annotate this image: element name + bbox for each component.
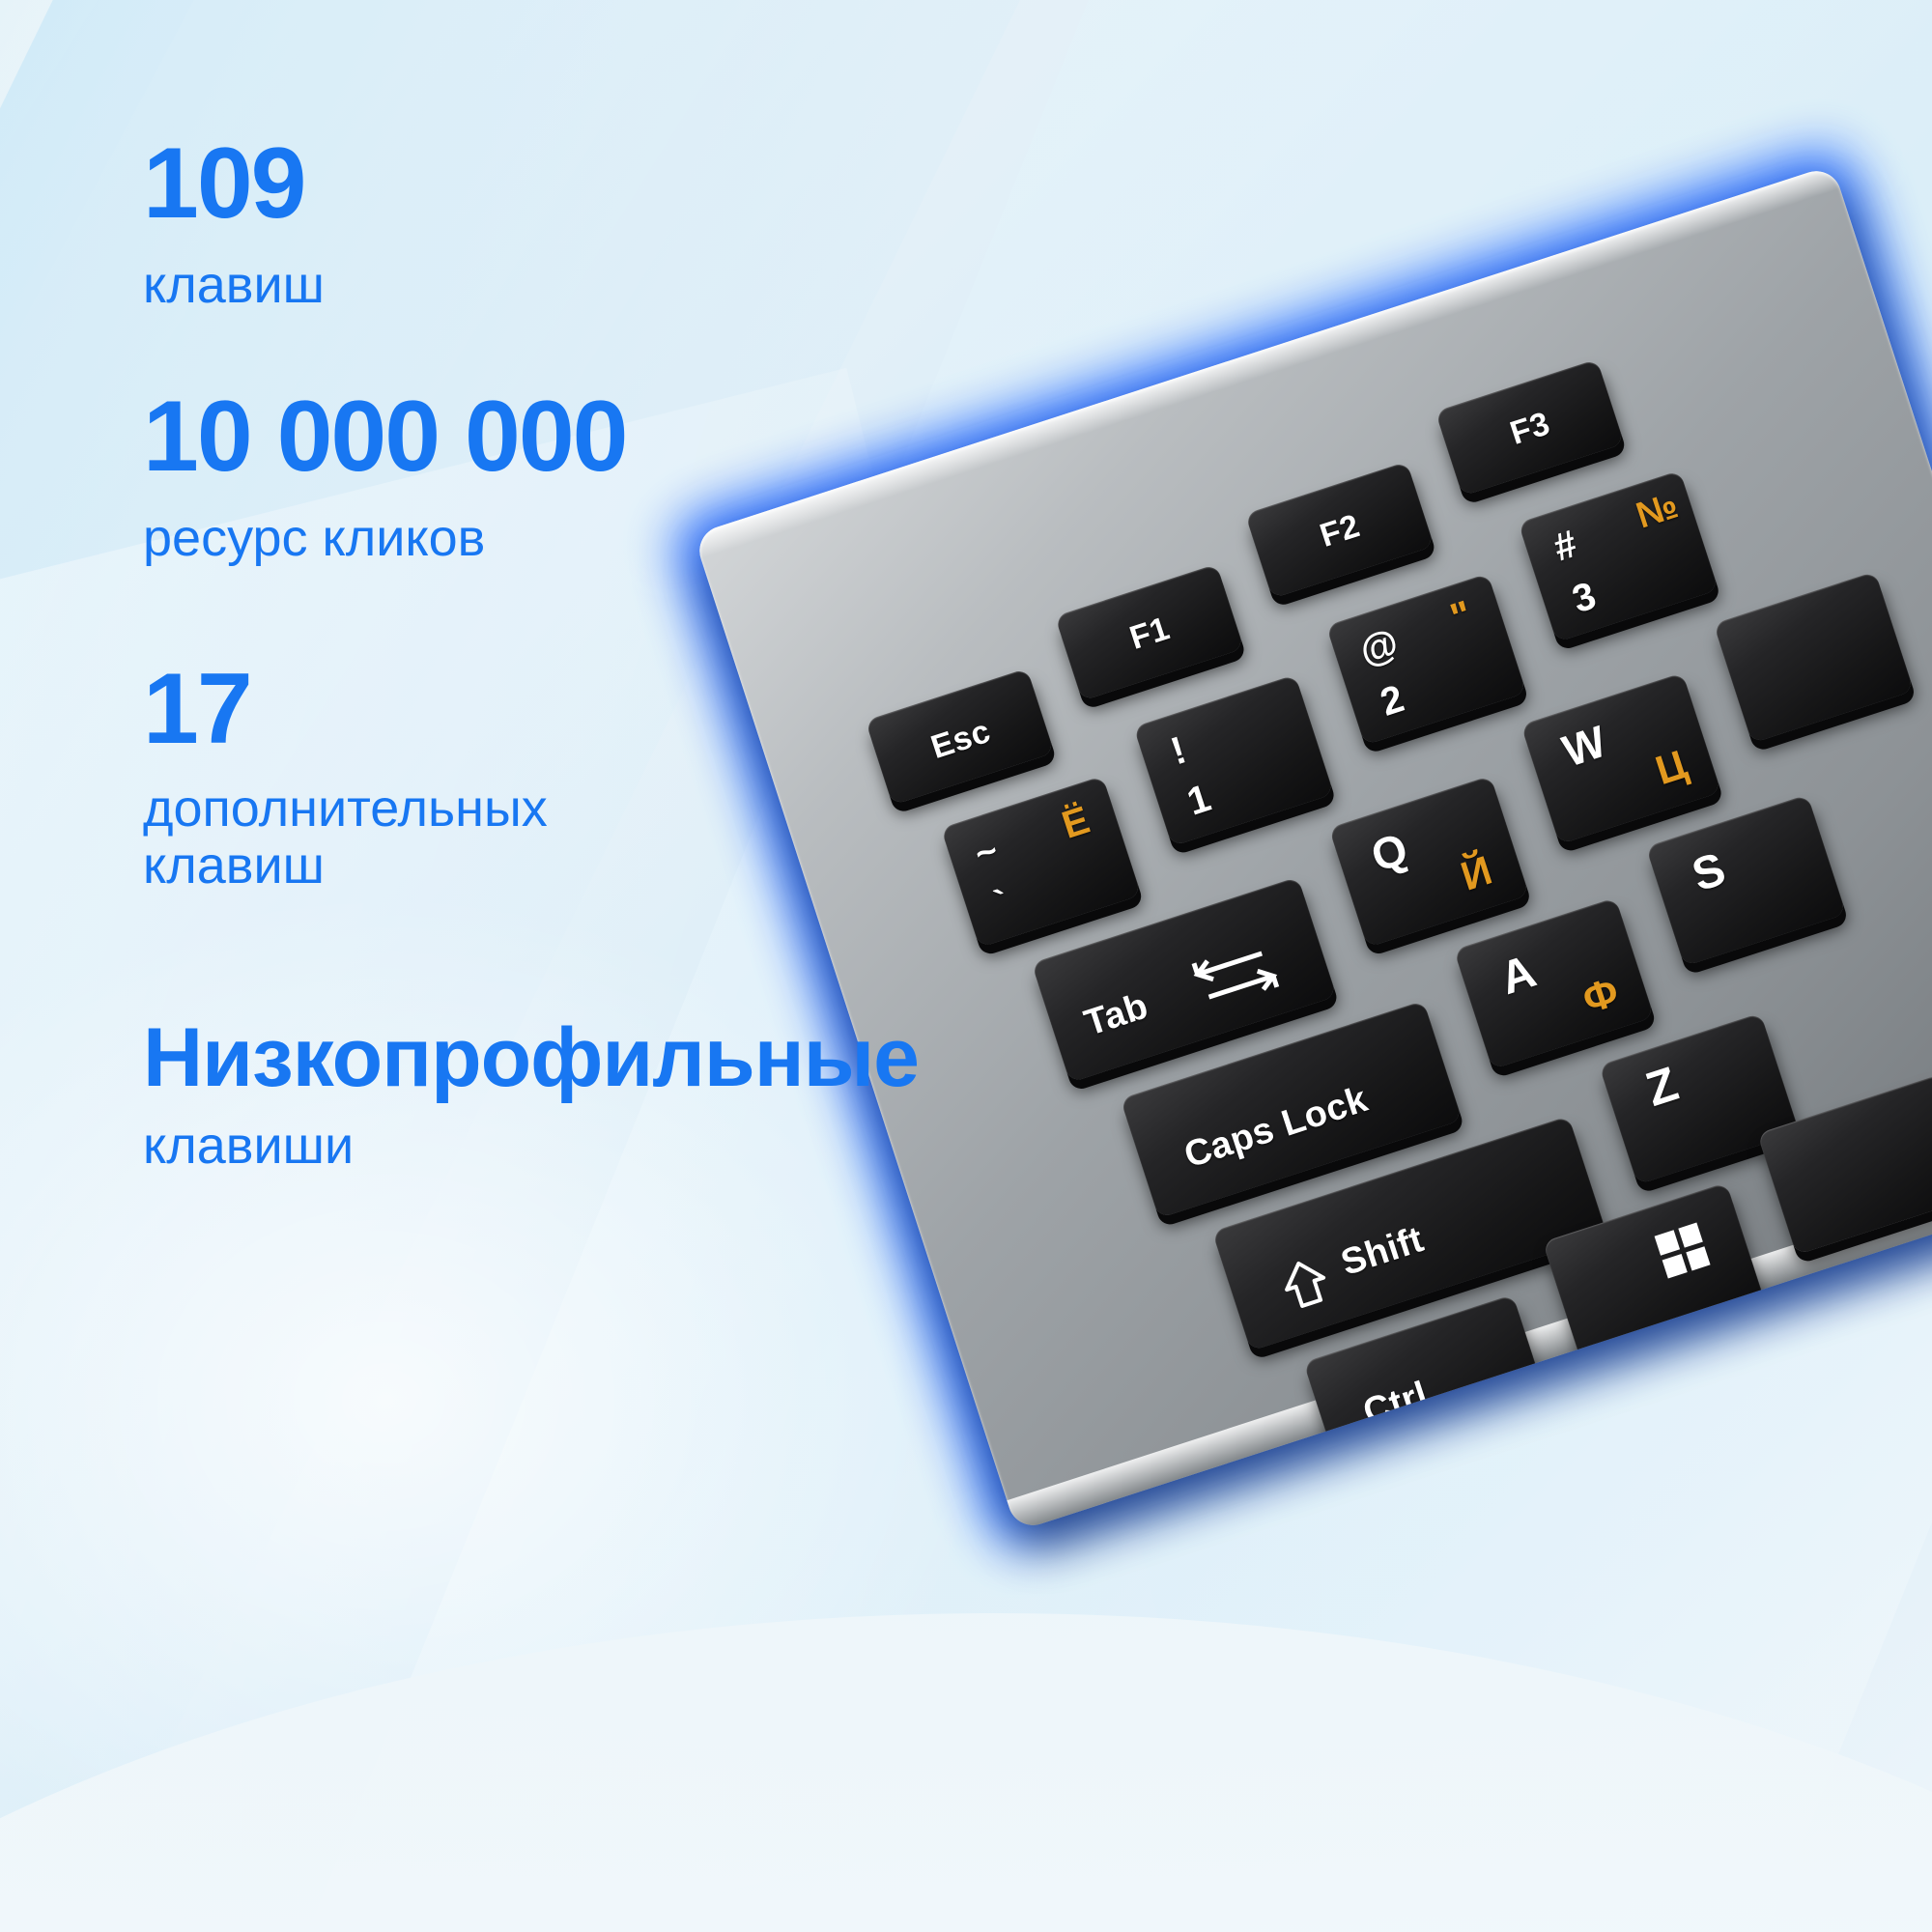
key-e[interactable] [1714, 571, 1915, 743]
stats-list: 109 клавиш 10 000 000 ресурс кликов 17 д… [143, 135, 993, 1175]
key-tab-label: Tab [1080, 985, 1153, 1044]
stat-item-low-profile: Низкопрофильные клавиши [143, 1017, 993, 1175]
key-tilde-cyrillic-label: Ё [1057, 799, 1094, 848]
stat-number-extra-keys: 17 [143, 661, 993, 759]
key-q[interactable]: Q Й [1329, 776, 1530, 948]
shift-arrow-icon [1276, 1254, 1333, 1314]
key-a[interactable]: A Ф [1454, 897, 1655, 1069]
key-w[interactable]: W Ц [1520, 672, 1721, 844]
stat-label-extra-keys: дополнительных клавиш [143, 781, 742, 894]
key-3[interactable]: # № 3 [1518, 470, 1719, 642]
key-q-cyrillic-label: Й [1456, 847, 1498, 900]
key-s[interactable]: S [1646, 794, 1847, 966]
key-caps-lock-label: Caps Lock [1179, 1079, 1373, 1178]
key-f1-label: F1 [1064, 589, 1236, 677]
key-f3-label: F3 [1443, 384, 1616, 472]
stat-label-low-profile: клавиши [143, 1118, 993, 1174]
key-1-base-label: 1 [1182, 777, 1217, 825]
key-f1[interactable]: F1 [1055, 564, 1244, 701]
stat-item-clicks: 10 000 000 ресурс кликов [143, 388, 993, 566]
key-a-cyrillic-label: Ф [1577, 968, 1625, 1023]
stat-label-keys: клавиш [143, 257, 993, 313]
stat-item-extra-keys: 17 дополнительных клавиш [143, 661, 993, 894]
key-2-shift-label: @ [1354, 621, 1404, 674]
stat-number-clicks: 10 000 000 [143, 388, 993, 487]
key-3-cyrillic-label: № [1632, 486, 1684, 538]
stat-item-keys: 109 клавиш [143, 135, 993, 313]
key-1-shift-label: ! [1166, 728, 1192, 774]
key-f2-label: F2 [1253, 487, 1426, 575]
key-z-label: Z [1639, 1055, 1685, 1118]
key-2[interactable]: @ " 2 [1326, 573, 1527, 745]
stat-label-clicks: ресурс кликов [143, 510, 993, 566]
key-a-label: A [1494, 945, 1543, 1006]
key-q-label: Q [1365, 822, 1414, 883]
key-3-base-label: 3 [1568, 574, 1603, 622]
stat-number-low-profile: Низкопрофильные [143, 1017, 993, 1098]
key-f2[interactable]: F2 [1245, 462, 1435, 599]
key-tilde-base-label: ` [990, 882, 1015, 925]
tab-arrows-icon [1186, 937, 1285, 1013]
key-ctrl[interactable]: Ctrl [1303, 1294, 1552, 1484]
key-2-cyrillic-label: " [1445, 591, 1478, 641]
key-f3[interactable]: F3 [1435, 359, 1625, 497]
key-w-label: W [1556, 715, 1612, 778]
promo-banner: 109 клавиш 10 000 000 ресурс кликов 17 д… [0, 0, 1932, 1932]
key-s-label: S [1686, 842, 1732, 902]
key-w-cyrillic-label: Ц [1650, 741, 1692, 794]
key-2-base-label: 2 [1376, 677, 1410, 725]
key-1[interactable]: ! 1 [1133, 674, 1334, 846]
key-3-shift-label: # [1548, 523, 1583, 571]
windows-logo-icon [1655, 1223, 1711, 1279]
key-shift-label: Shift [1336, 1219, 1429, 1285]
stat-number-keys: 109 [143, 135, 993, 234]
